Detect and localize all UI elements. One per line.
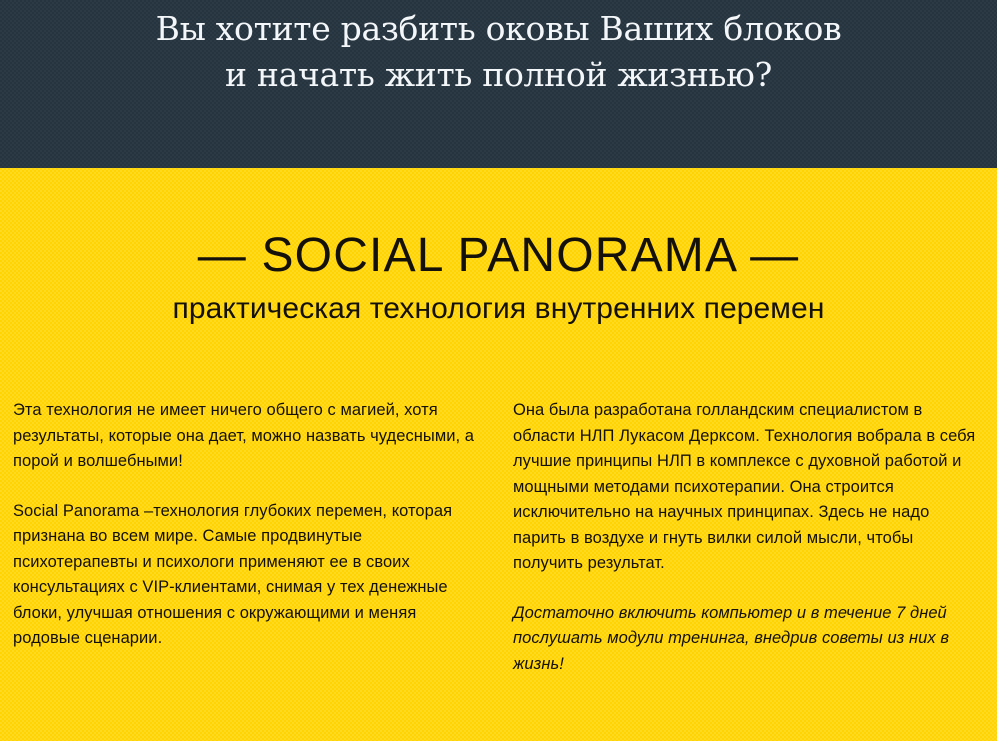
header-line-1: Вы хотите разбить оковы Ваших блоков bbox=[0, 6, 997, 52]
left-paragraph-1: Эта технология не имеет ничего общего с … bbox=[13, 398, 483, 475]
body-panel: — SOCIAL PANORAMA — практическая техноло… bbox=[0, 168, 997, 741]
header-question: Вы хотите разбить оковы Ваших блоков и н… bbox=[0, 6, 997, 98]
right-column: Она была разработана голландским специал… bbox=[513, 398, 983, 677]
right-paragraph-italic: Достаточно включить компьютер и в течени… bbox=[513, 601, 983, 678]
left-paragraph-2: Social Panorama –технология глубоких пер… bbox=[13, 499, 483, 652]
header-band: Вы хотите разбить оковы Ваших блоков и н… bbox=[0, 0, 997, 168]
title-block: — SOCIAL PANORAMA — практическая техноло… bbox=[0, 228, 997, 328]
header-line-2: и начать жить полной жизнью? bbox=[0, 52, 997, 98]
right-paragraph-1: Она была разработана голландским специал… bbox=[513, 398, 983, 577]
left-column: Эта технология не имеет ничего общего с … bbox=[13, 398, 483, 652]
page-title: — SOCIAL PANORAMA — bbox=[0, 228, 997, 284]
page-subtitle: практическая технология внутренних перем… bbox=[0, 290, 997, 328]
slide-canvas: Вы хотите разбить оковы Ваших блоков и н… bbox=[0, 0, 997, 741]
text-columns: Эта технология не имеет ничего общего с … bbox=[0, 398, 997, 741]
